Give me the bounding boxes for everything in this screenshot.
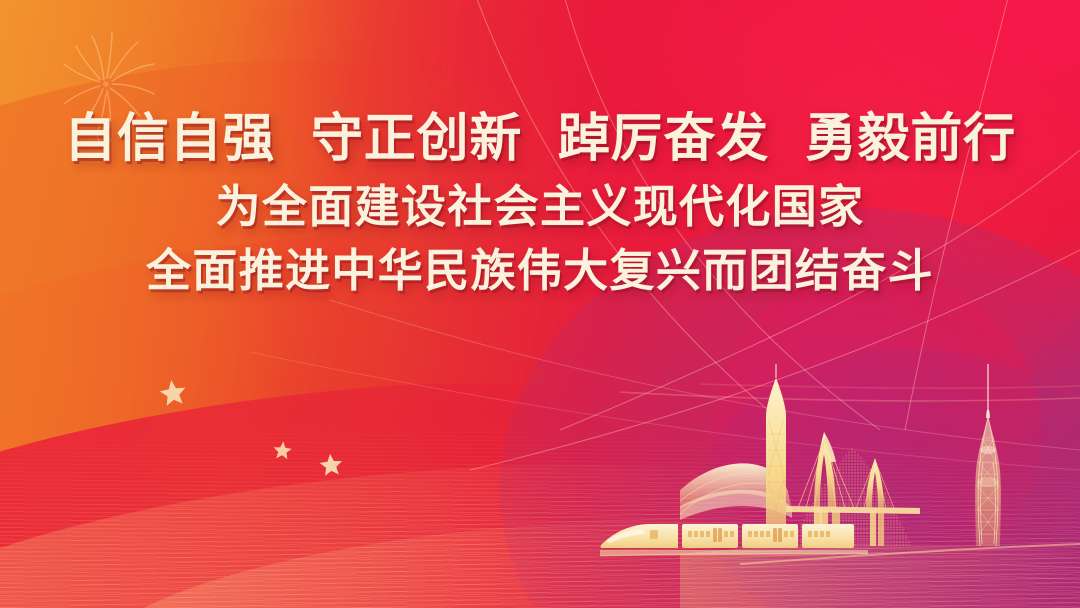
headline-block: 自信自强 守正创新 踔厉奋发 勇毅前行 为全面建设社会主义现代化国家 全面推进中… — [0, 108, 1080, 300]
headline-seg-2: 守正创新 — [311, 108, 522, 172]
headline-line-3: 全面推进中华民族伟大复兴而团结奋斗 — [0, 242, 1080, 300]
headline-seg-1: 自信自强 — [64, 108, 275, 172]
headline-line-1: 自信自强 守正创新 踔厉奋发 勇毅前行 — [0, 108, 1080, 172]
headline-line-2: 为全面建设社会主义现代化国家 — [0, 178, 1080, 236]
city-skyline — [680, 358, 1080, 608]
canton-tower — [975, 364, 1001, 546]
star-2-icon — [271, 439, 294, 462]
star-3-icon — [317, 451, 345, 479]
poster-canvas: 自信自强 守正创新 踔厉奋发 勇毅前行 为全面建设社会主义现代化国家 全面推进中… — [0, 0, 1080, 608]
headline-seg-3: 踔厉奋发 — [558, 108, 769, 172]
high-speed-train — [600, 510, 870, 570]
headline-seg-4: 勇毅前行 — [805, 108, 1016, 172]
star-1-icon — [156, 376, 190, 410]
